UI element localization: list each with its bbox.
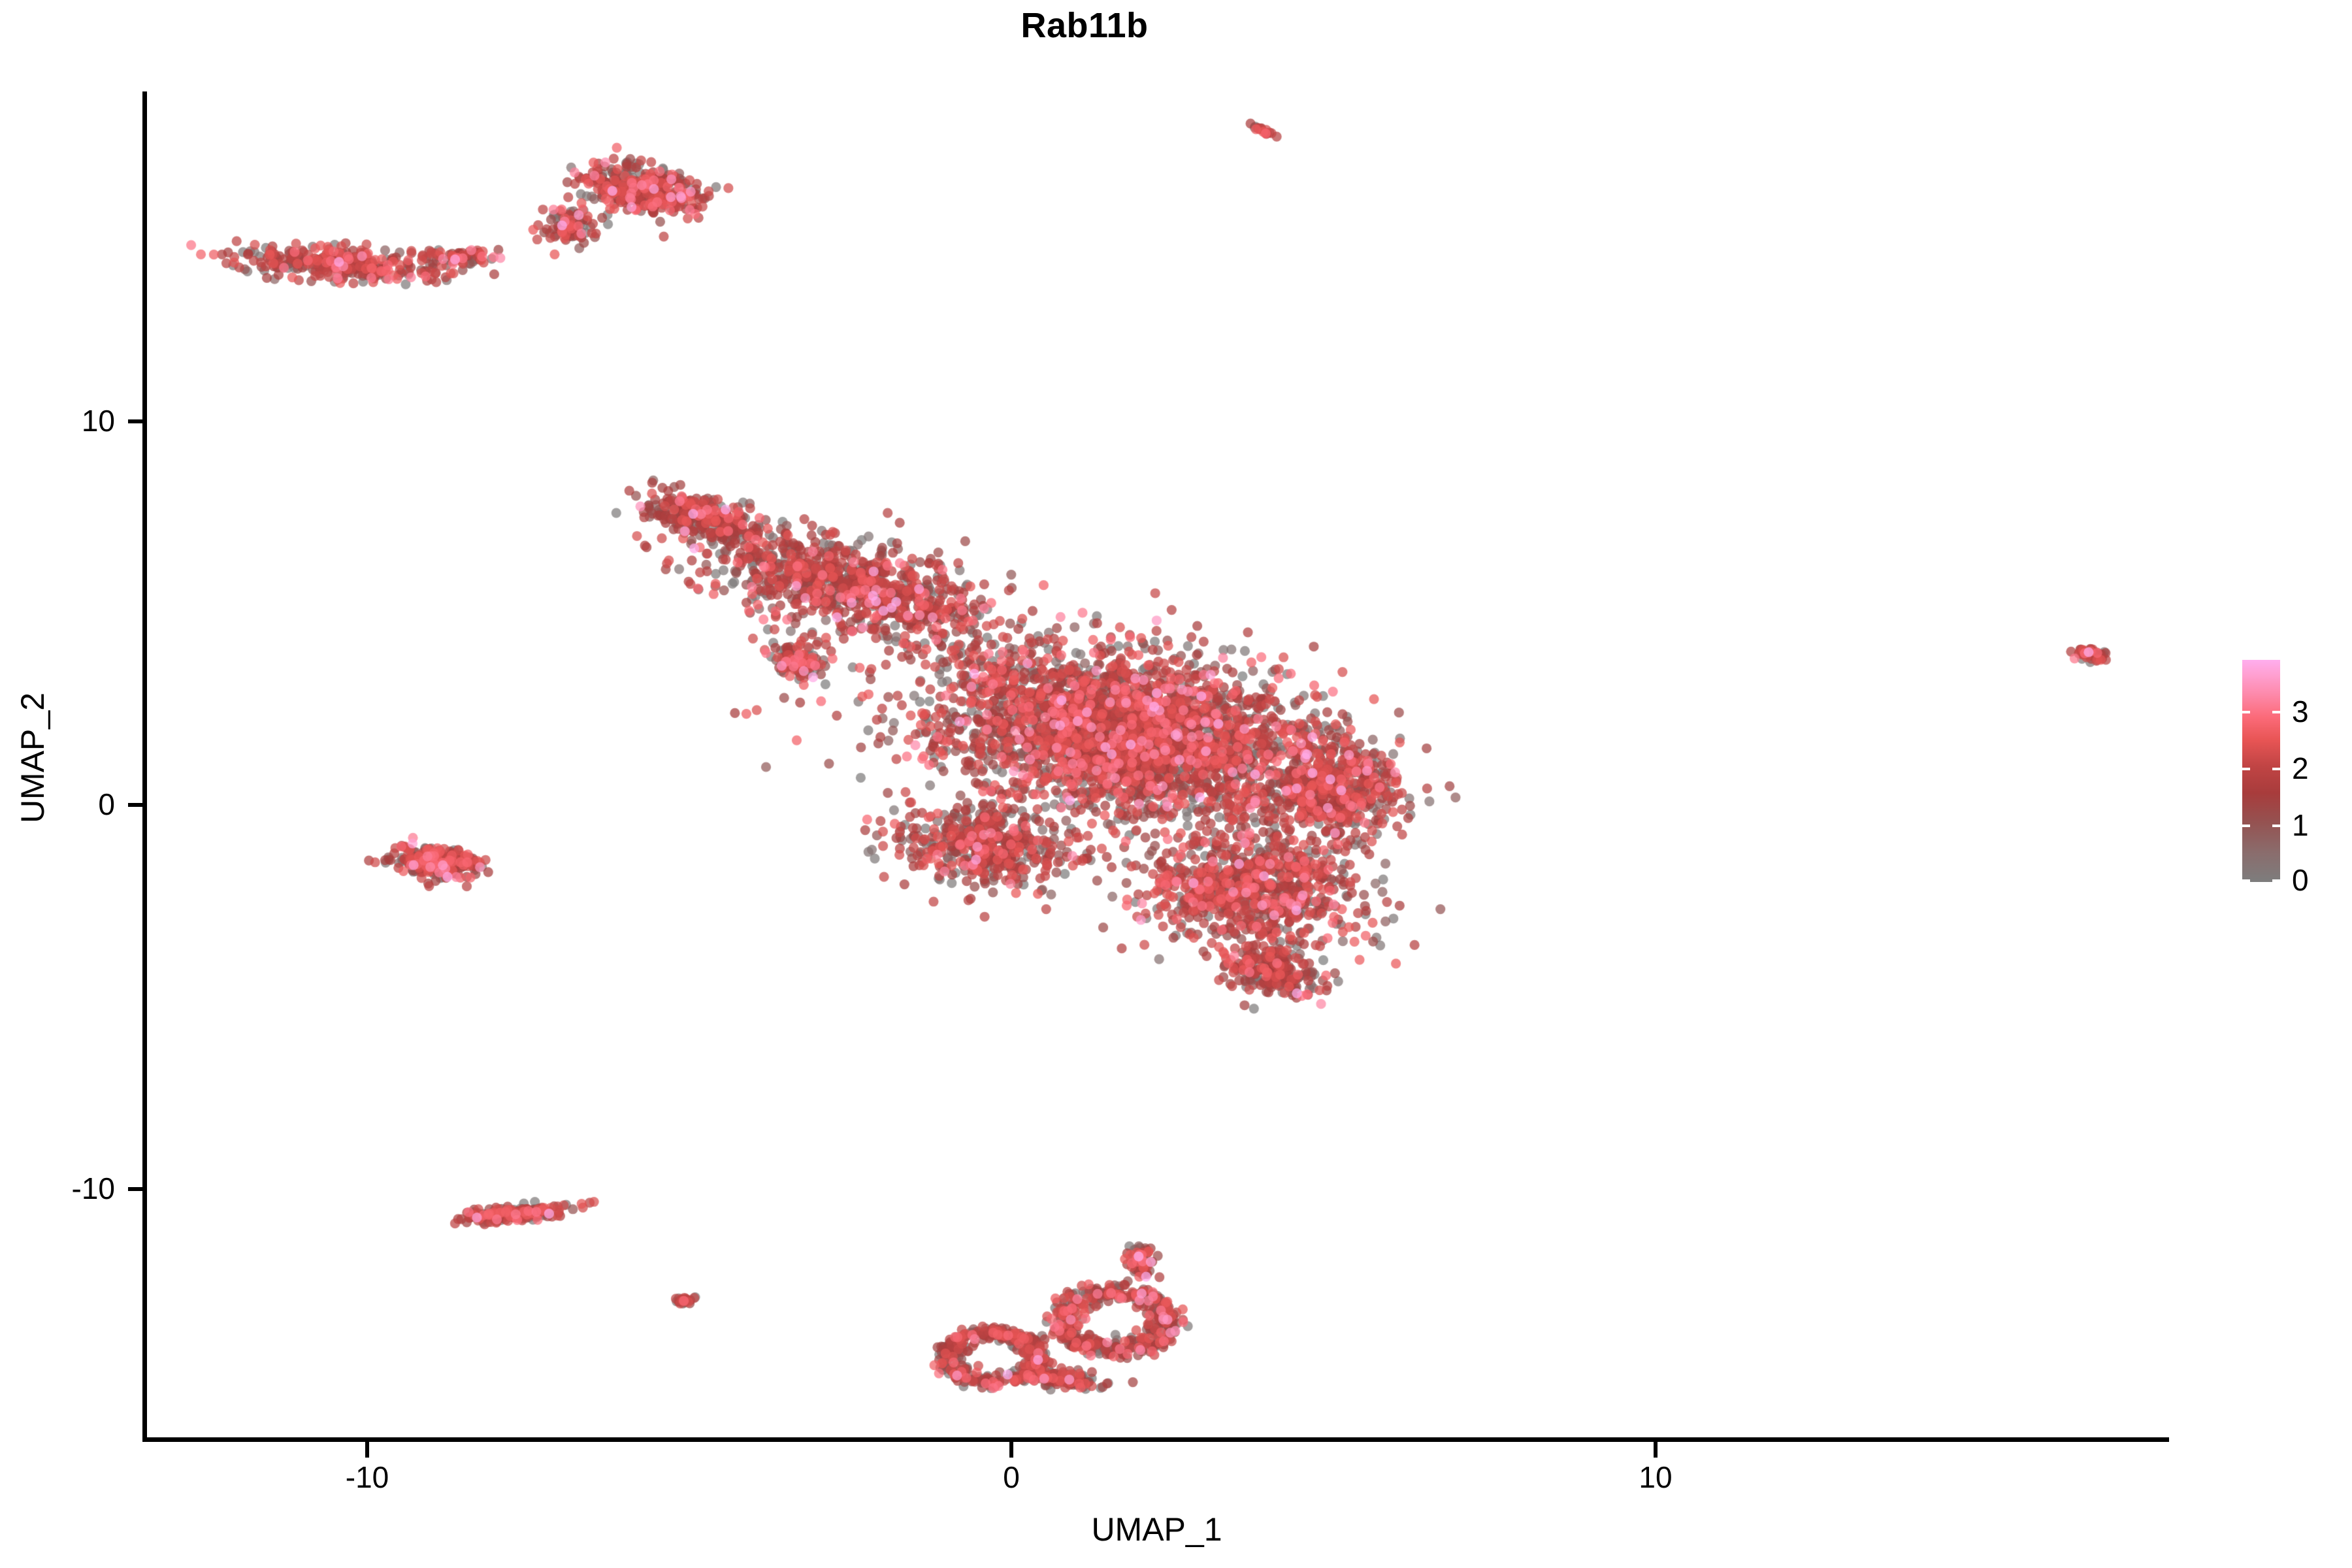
x-tick-label-0: 0: [913, 1462, 1109, 1492]
x-tick-mark-10: [1654, 1442, 1658, 1458]
colorbar-legend: 3 2 1 0: [2242, 660, 2347, 889]
colorbar-tick-2-left: [2242, 768, 2250, 770]
page-title: Rab11b: [0, 7, 2169, 45]
y-tick-label--10: -10: [0, 1173, 115, 1203]
colorbar-tick-3-right: [2272, 711, 2280, 713]
colorbar-tick-0-right: [2272, 879, 2280, 882]
colorbar-label-1: 1: [2292, 810, 2309, 840]
colorbar-tick-3-left: [2242, 711, 2250, 713]
colorbar-tick-0-left: [2242, 879, 2250, 882]
y-axis-title: UMAP_2: [16, 431, 49, 1085]
colorbar-label-2: 2: [2292, 753, 2309, 783]
x-axis-line: [144, 1437, 2169, 1442]
colorbar-label-3: 3: [2292, 696, 2309, 727]
x-tick-mark--10: [365, 1442, 369, 1458]
colorbar-tick-2-right: [2272, 768, 2280, 770]
colorbar-label-0: 0: [2292, 865, 2309, 895]
plot-panel: [144, 91, 2169, 1439]
x-tick-mark-0: [1009, 1442, 1013, 1458]
x-axis-title: UMAP_1: [144, 1513, 2169, 1546]
y-tick-mark-0: [128, 803, 142, 807]
x-tick-label--10: -10: [269, 1462, 465, 1492]
x-tick-label-10: 10: [1558, 1462, 1754, 1492]
scatter-points-layer: [144, 91, 2169, 1439]
y-tick-mark--10: [128, 1187, 142, 1191]
colorbar-gradient: [2242, 660, 2280, 882]
colorbar-tick-1-right: [2272, 825, 2280, 827]
colorbar-tick-1-left: [2242, 825, 2250, 827]
y-tick-mark-10: [128, 419, 142, 423]
feature-plot-root: Rab11b 10 0 -10 -10 0 10 UMAP_1 UMAP_2 3…: [0, 0, 2352, 1568]
y-axis-line: [142, 91, 147, 1442]
